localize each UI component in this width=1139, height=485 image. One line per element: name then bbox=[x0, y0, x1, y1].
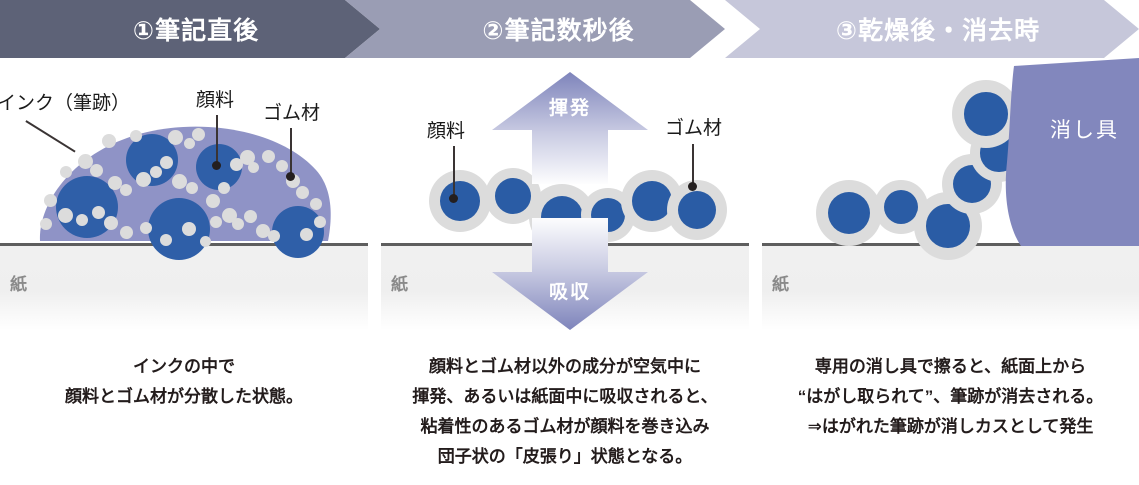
rubber-particle bbox=[206, 194, 220, 208]
caption-line: 団子状の「皮張り」状態となる。 bbox=[381, 442, 749, 472]
rubber-particle bbox=[104, 216, 118, 230]
rubber-label: ゴム材 bbox=[263, 98, 320, 125]
panel-stage-2: 紙 揮発 bbox=[381, 58, 749, 330]
caption-line: インクの中で bbox=[0, 352, 368, 382]
rubber-particle bbox=[168, 130, 183, 145]
rubber-leader-dot bbox=[286, 172, 295, 181]
caption-line: “はがし取られて”、筆跡が消去される。 bbox=[762, 382, 1139, 412]
rubber-particle bbox=[300, 228, 313, 241]
rubber-particle bbox=[244, 210, 257, 223]
eraser-tool-shape bbox=[1005, 58, 1139, 246]
caption-line: 揮発、あるいは紙面中に吸収されると、 bbox=[381, 382, 749, 412]
arrow-down-icon bbox=[492, 218, 648, 330]
caption-stage-1: インクの中で 顔料とゴム材が分散した状態。 bbox=[0, 352, 368, 412]
rubber-particle bbox=[130, 130, 142, 142]
rubber-particle bbox=[296, 186, 309, 199]
evaporation-arrow-label: 揮発 bbox=[549, 93, 591, 120]
rubber-particle bbox=[102, 134, 116, 148]
caption-line: 顔料とゴム材以外の成分が空気中に bbox=[381, 352, 749, 382]
rubber-particle bbox=[276, 160, 288, 172]
rubber-particle bbox=[172, 174, 187, 189]
coated-pigment-bead bbox=[667, 180, 727, 240]
rubber-particle bbox=[160, 234, 172, 246]
pigment-leader-dot bbox=[212, 161, 221, 170]
rubber-particle bbox=[58, 208, 73, 223]
rubber-particle bbox=[160, 156, 173, 169]
pigment-leader-line bbox=[453, 146, 455, 198]
caption-stage-2: 顔料とゴム材以外の成分が空気中に 揮発、あるいは紙面中に吸収されると、 粘着性の… bbox=[381, 352, 749, 472]
ink-label: インク（筆跡） bbox=[0, 88, 130, 115]
rubber-particle bbox=[186, 182, 198, 194]
rubber-leader-line bbox=[692, 144, 694, 186]
absorption-arrow-label: 吸収 bbox=[549, 277, 591, 304]
pigment-particle bbox=[272, 206, 324, 258]
stage-banner-1: ①筆記直後 bbox=[0, 0, 380, 58]
pigment-leader-dot bbox=[449, 194, 458, 203]
pigment-leader-line bbox=[216, 115, 218, 165]
panel-stage-3: 紙 消し具 bbox=[762, 58, 1139, 330]
stage-banner-3-label: ③乾燥後・消去時 bbox=[836, 11, 1040, 47]
arrow-up-icon bbox=[492, 72, 648, 184]
rubber-particle bbox=[262, 150, 275, 163]
rubber-particle bbox=[184, 138, 195, 149]
rubber-particle bbox=[90, 164, 103, 177]
rubber-particle bbox=[310, 198, 322, 210]
pigment-particle bbox=[148, 198, 210, 260]
rubber-particle bbox=[210, 216, 222, 228]
rubber-particle bbox=[76, 214, 88, 226]
rubber-label: ゴム材 bbox=[665, 113, 722, 140]
caption-line: 顔料とゴム材が分散した状態。 bbox=[0, 382, 368, 412]
rubber-particle bbox=[120, 226, 133, 239]
rubber-particle bbox=[268, 230, 280, 242]
rubber-particle bbox=[192, 128, 205, 141]
paper-label: 紙 bbox=[391, 270, 408, 295]
pigment-label: 顔料 bbox=[196, 85, 234, 112]
rubber-particle bbox=[218, 182, 230, 194]
rubber-particle bbox=[150, 166, 162, 178]
coated-pigment-bead bbox=[816, 180, 882, 246]
caption-line: ⇒はがれた筆跡が消しカスとして発生 bbox=[762, 412, 1139, 442]
rubber-particle bbox=[92, 206, 105, 219]
rubber-particle bbox=[182, 222, 196, 236]
caption-line: 粘着性のあるゴム材が顔料を巻き込み bbox=[381, 412, 749, 442]
rubber-particle bbox=[200, 236, 211, 247]
stage-banner-2: ②筆記数秒後 bbox=[345, 0, 760, 58]
evaporation-arrow: 揮発 bbox=[492, 72, 648, 184]
paper-label: 紙 bbox=[772, 270, 789, 295]
absorption-arrow: 吸収 bbox=[492, 218, 648, 330]
rubber-leader-dot bbox=[688, 182, 697, 191]
infographic-root: ①筆記直後 ②筆記数秒後 ③乾燥後・消去時 紙 bbox=[0, 0, 1139, 485]
stage-banner-1-label: ①筆記直後 bbox=[133, 11, 259, 47]
paper-label: 紙 bbox=[10, 270, 27, 295]
rubber-particle bbox=[136, 172, 151, 187]
rubber-particle bbox=[120, 184, 132, 196]
rubber-particle bbox=[248, 162, 259, 173]
rubber-particle bbox=[40, 218, 52, 230]
stage-banner-3: ③乾燥後・消去時 bbox=[725, 0, 1139, 58]
rubber-particle bbox=[314, 216, 326, 228]
panel-stage-1: 紙 bbox=[0, 58, 368, 330]
rubber-leader-line bbox=[290, 128, 292, 176]
rubber-particle bbox=[60, 166, 72, 178]
rubber-particle bbox=[232, 218, 244, 230]
stage-banner-2-label: ②筆記数秒後 bbox=[482, 11, 634, 47]
coated-pigment-bead bbox=[429, 170, 491, 232]
caption-line: 専用の消し具で擦ると、紙面上から bbox=[762, 352, 1139, 382]
stage-banner-row: ①筆記直後 ②筆記数秒後 ③乾燥後・消去時 bbox=[0, 0, 1139, 58]
rubber-particle bbox=[44, 194, 57, 207]
caption-stage-3: 専用の消し具で擦ると、紙面上から “はがし取られて”、筆跡が消去される。 ⇒はが… bbox=[762, 352, 1139, 442]
rubber-particle bbox=[140, 222, 152, 234]
eraser-tool-label: 消し具 bbox=[1050, 114, 1119, 144]
pigment-label: 顔料 bbox=[427, 116, 465, 143]
